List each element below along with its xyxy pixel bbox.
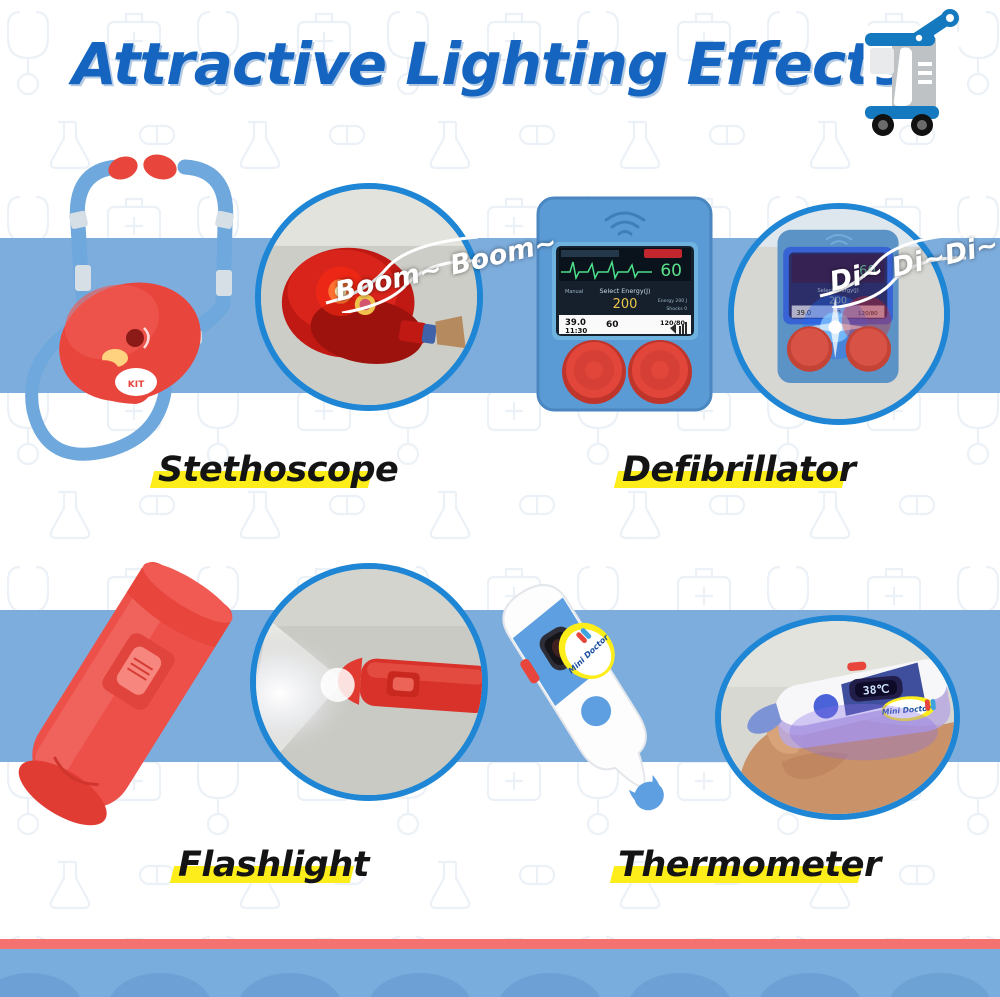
caption-label-flashlight: Flashlight — [178, 845, 369, 885]
caption-label-defibrillator: Defibrillator — [622, 450, 855, 490]
defib-hr-value: 60 — [606, 320, 619, 330]
product-photo-defibrillator: 60 Manual Select Energy(J) 200 Energy 20… — [532, 192, 717, 417]
product-photo-thermometer: Mini Doctor — [490, 550, 720, 815]
page-title: Attractive Lighting Effects — [72, 30, 906, 98]
caption-label-stethoscope: Stethoscope — [158, 450, 398, 490]
defib-hr-top: 60 — [660, 261, 682, 281]
defib-energy-prompt: Select Energy(J) — [600, 287, 651, 295]
inset-circle-flashlight — [250, 563, 488, 801]
defib-bp-value: 120/80 — [660, 319, 685, 327]
footer-band — [0, 949, 1000, 997]
caption-defibrillator: Defibrillator — [622, 450, 855, 490]
caption-label-thermometer: Thermometer — [618, 845, 881, 885]
medical-cart-logo-icon — [840, 8, 980, 138]
thermometer-display-value: 38℃ — [862, 681, 890, 697]
product-photo-flashlight — [0, 545, 250, 840]
header: Attractive Lighting Effects — [0, 0, 1000, 150]
caption-flashlight: Flashlight — [178, 845, 369, 885]
defib-mode-label: Manual — [565, 289, 583, 295]
defib-energy-value: 200 — [613, 297, 638, 312]
defib-time-value: 11:30 — [565, 327, 587, 335]
caption-thermometer: Thermometer — [618, 845, 881, 885]
inset-circle-defibrillator: 60 Select Energy(J) 200 39.0 60 120/80 — [728, 203, 950, 425]
defib-shocks-readout: Shocks 0 — [666, 306, 687, 312]
defib-energy-readout: Energy 200 J — [658, 298, 687, 304]
inset-circle-thermometer: 38℃ Mini Doctor — [715, 615, 960, 820]
poster-canvas: Attractive Lighting Effects — [0, 0, 1000, 997]
caption-stethoscope: Stethoscope — [158, 450, 398, 490]
footer-accent-stripe — [0, 939, 1000, 949]
stethoscope-kit-badge: KIT — [128, 380, 145, 390]
product-photo-stethoscope: KIT — [20, 130, 280, 470]
